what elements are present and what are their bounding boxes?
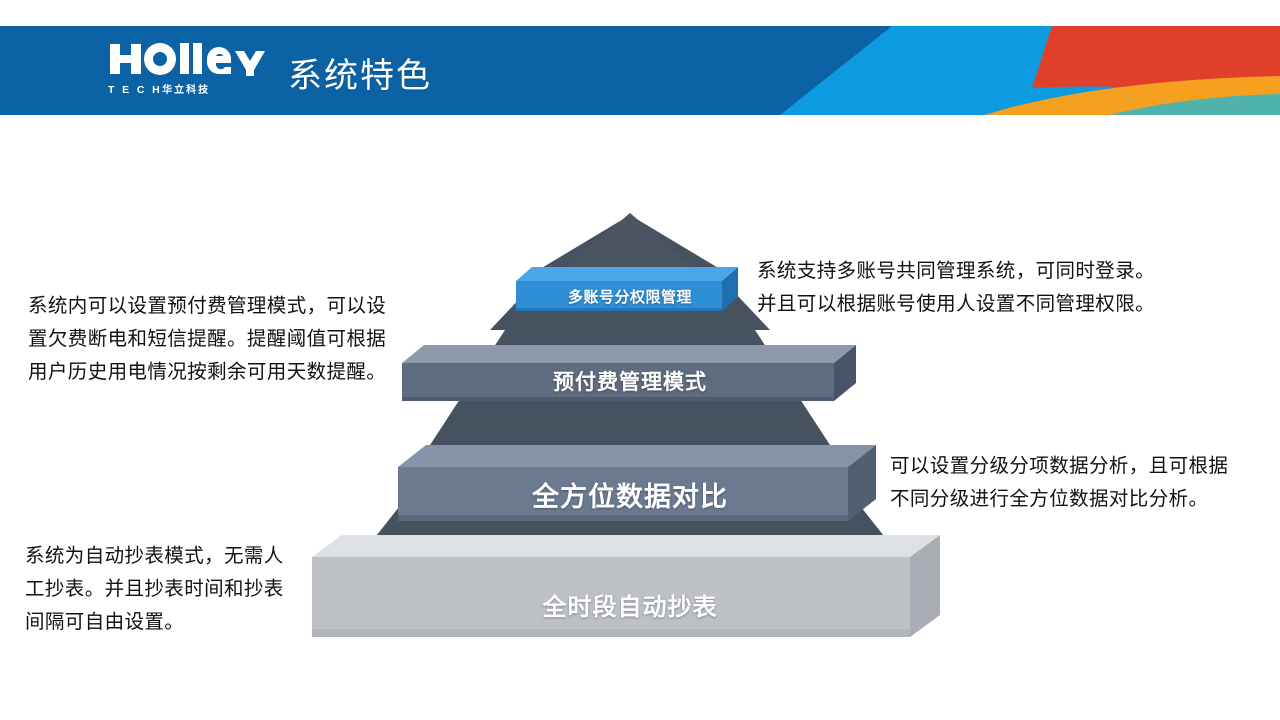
logo-wordmark-icon [108,41,268,77]
tier-2-top-face [398,445,876,467]
logo-tagline-latin: T E C H [108,84,162,96]
logo-tagline-cn: 华立科技 [162,85,210,96]
callout-prepaid-mode: 系统内可以设置预付费管理模式，可以设 置欠费断电和短信提醒。提醒阈值可根据 用户… [28,290,440,389]
tier-2-front-shadow [398,515,848,521]
callout-multi-account: 系统支持多账号共同管理系统，可同时登录。 并且可以根据账号使用人设置不同管理权限… [757,255,1187,321]
callout-data-analysis: 可以设置分级分项数据分析，且可根据 不同分级进行全方位数据对比分析。 [890,450,1280,516]
tier-3-front-shadow [312,629,910,637]
tier-3-top-face [312,535,940,557]
logo-tagline: T E C H华立科技 [108,81,268,96]
tier-0-top-face [516,267,738,281]
tier-1-top-face [402,345,856,363]
page-title: 系统特色 [288,48,432,97]
callout-auto-meter-reading: 系统为自动抄表模式，无需人 工抄表。并且抄表时间和抄表 间隔可自由设置。 [25,540,325,639]
brand-logo: T E C H华立科技 [108,41,268,99]
tier-0-front-shadow [516,308,722,311]
tier-1-front-shadow [402,397,834,401]
tier-label-data-comparison: 全方位数据对比 [300,475,960,514]
tier-label-auto-meter-reading: 全时段自动抄表 [300,587,960,622]
header-swoosh-graphic [780,26,1280,115]
slide-canvas: T E C H华立科技 系统特色 [0,0,1280,720]
